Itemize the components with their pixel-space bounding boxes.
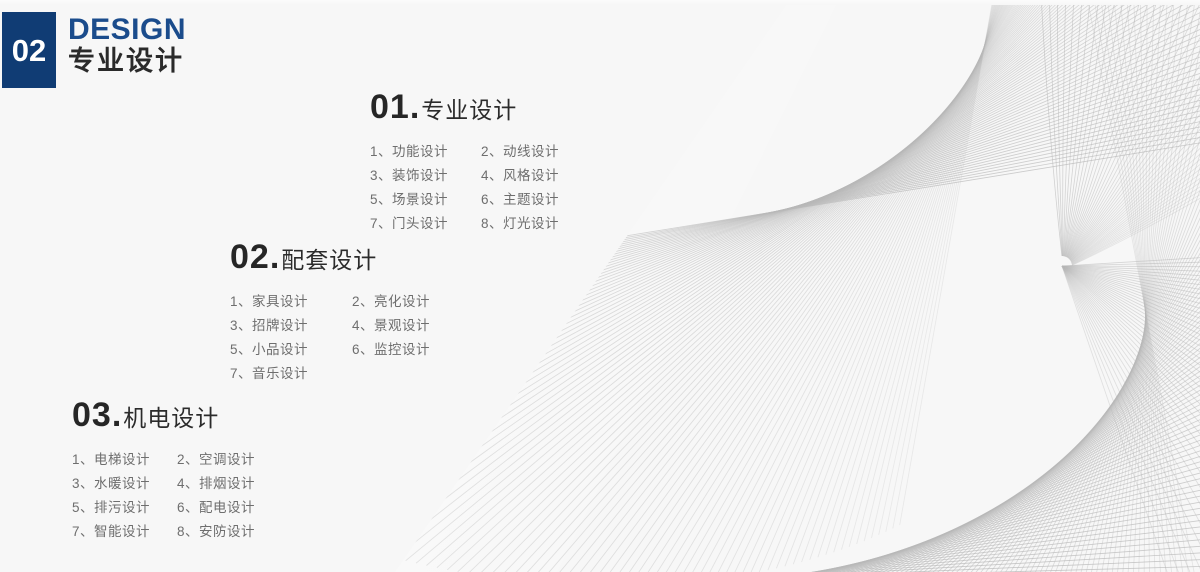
list-item: 3、招牌设计 [230,314,340,338]
block-03-list: 1、电梯设计 2、空调设计 3、水暖设计 4、排烟设计 5、排污设计 6、配电设… [72,448,270,544]
list-item: 2、空调设计 [177,448,270,472]
list-row: 7、门头设计 8、灯光设计 [370,212,580,236]
list-row: 3、招牌设计 4、景观设计 [230,314,462,338]
title-chinese: 专业设计 [68,47,186,77]
content-block-02: 02 . 配套设计 1、家具设计 2、亮化设计 3、招牌设计 4、景观设计 5、… [230,240,462,386]
list-row: 3、装饰设计 4、风格设计 [370,164,580,188]
list-item: 6、配电设计 [177,496,270,520]
list-row: 5、小品设计 6、监控设计 [230,338,462,362]
title-english: DESIGN [68,14,186,46]
list-item: 6、监控设计 [352,338,462,362]
list-item: 4、风格设计 [481,164,580,188]
list-item: 2、亮化设计 [352,290,462,314]
list-row: 3、水暖设计 4、排烟设计 [72,472,270,496]
block-02-title: 配套设计 [281,249,377,272]
list-item: 1、功能设计 [370,140,469,164]
block-01-dot: . [410,90,419,124]
list-item: 8、安防设计 [177,520,270,544]
header-titles: DESIGN 专业设计 [68,14,186,76]
art-edge-fade [395,0,1200,572]
content-block-03: 03 . 机电设计 1、电梯设计 2、空调设计 3、水暖设计 4、排烟设计 5、… [72,398,270,544]
list-item: 4、排烟设计 [177,472,270,496]
list-item: 1、电梯设计 [72,448,165,472]
block-01-heading: 01 . 专业设计 [370,90,580,124]
list-item: 5、排污设计 [72,496,165,520]
list-row: 7、智能设计 8、安防设计 [72,520,270,544]
section-number-text: 02 [12,35,46,66]
list-item: 3、水暖设计 [72,472,165,496]
list-row: 1、功能设计 2、动线设计 [370,140,580,164]
list-item: 7、门头设计 [370,212,469,236]
content-block-01: 01 . 专业设计 1、功能设计 2、动线设计 3、装饰设计 4、风格设计 5、… [370,90,580,236]
list-row: 7、音乐设计 [230,362,462,386]
block-02-heading: 02 . 配套设计 [230,240,462,274]
list-item: 7、智能设计 [72,520,165,544]
list-item: 1、家具设计 [230,290,340,314]
list-item: 5、场景设计 [370,188,469,212]
top-sheen [0,0,1200,5]
block-03-number: 03 [72,398,112,432]
block-03-dot: . [112,398,121,432]
list-row: 1、电梯设计 2、空调设计 [72,448,270,472]
block-01-title: 专业设计 [421,99,517,122]
block-03-title: 机电设计 [123,407,219,430]
slide-root: 02 DESIGN 专业设计 01 . 专业设计 1、功能设计 2、动线设计 3… [0,0,1200,572]
block-02-dot: . [270,240,279,274]
list-row: 5、场景设计 6、主题设计 [370,188,580,212]
list-item: 5、小品设计 [230,338,340,362]
list-item: 3、装饰设计 [370,164,469,188]
block-03-heading: 03 . 机电设计 [72,398,270,432]
list-item: 4、景观设计 [352,314,462,338]
list-row: 1、家具设计 2、亮化设计 [230,290,462,314]
block-02-number: 02 [230,240,270,274]
list-item: 6、主题设计 [481,188,580,212]
list-item: 2、动线设计 [481,140,580,164]
list-item: 8、灯光设计 [481,212,580,236]
block-01-list: 1、功能设计 2、动线设计 3、装饰设计 4、风格设计 5、场景设计 6、主题设… [370,140,580,236]
block-01-number: 01 [370,90,410,124]
list-item: 7、音乐设计 [230,362,340,386]
block-02-list: 1、家具设计 2、亮化设计 3、招牌设计 4、景观设计 5、小品设计 6、监控设… [230,290,462,386]
section-number-badge: 02 [2,12,56,88]
list-row: 5、排污设计 6、配电设计 [72,496,270,520]
